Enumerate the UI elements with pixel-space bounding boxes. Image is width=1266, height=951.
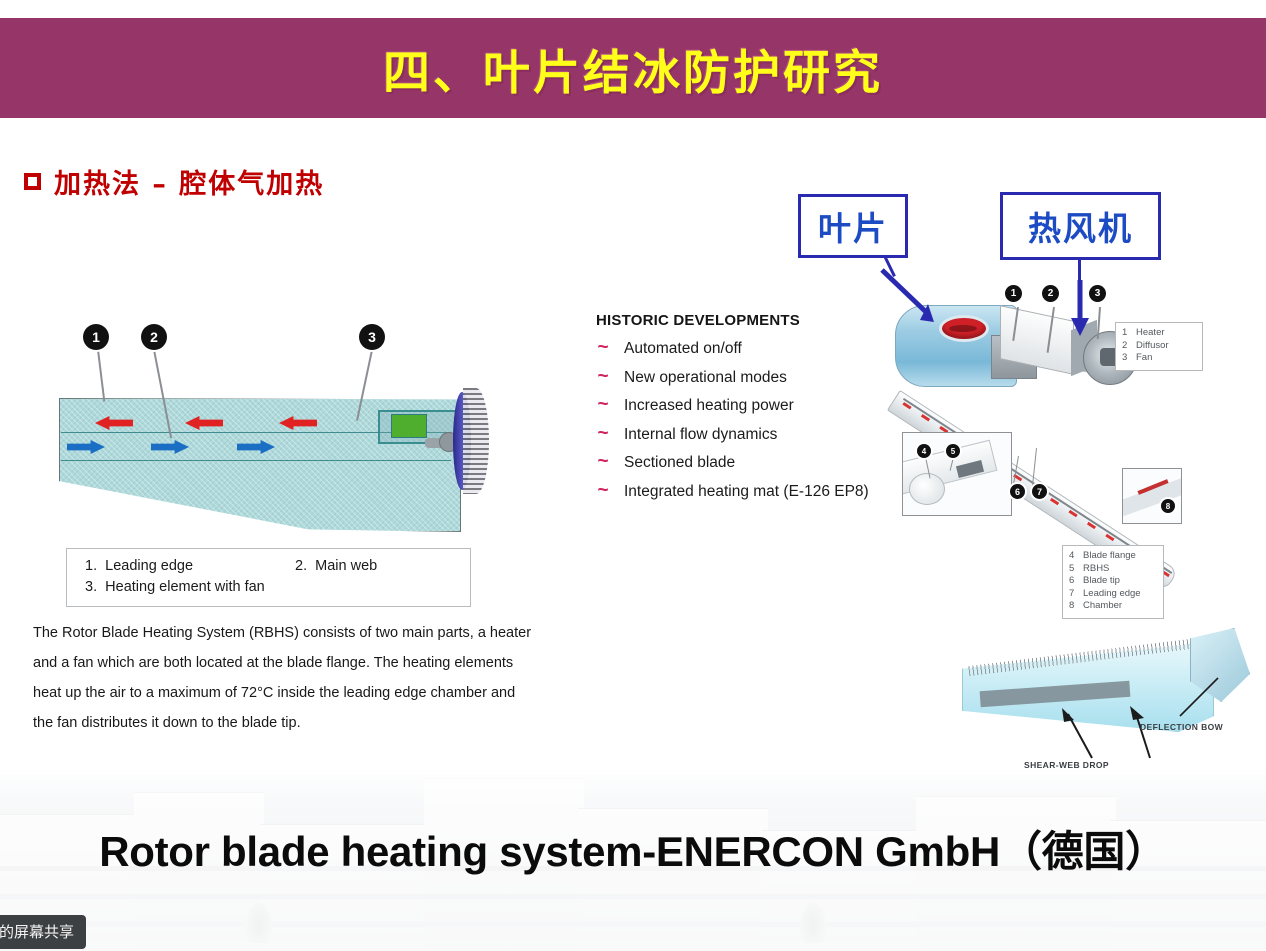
root-legend-label: Heater <box>1136 327 1165 340</box>
historic-item-label: New operational modes <box>624 369 787 387</box>
tilde-bullet-icon: ~ <box>596 371 610 383</box>
legend-row: 1. Leading edge 2. Main web <box>67 556 470 577</box>
callout-blade: 叶片 <box>798 194 908 258</box>
tilde-bullet-icon: ~ <box>596 342 610 354</box>
legend-item-3: 3. Heating element with fan <box>67 577 265 598</box>
slide-footer-title: Rotor blade heating system-ENERCON GmbH（… <box>0 818 1266 879</box>
historic-item-label: Sectioned blade <box>624 454 735 472</box>
blade-legend-label: Leading edge <box>1083 588 1141 601</box>
blade-cross-section-diagram: 1 2 3 <box>53 320 523 535</box>
callout-hot-air-fan-label: 热风机 <box>1028 202 1133 250</box>
inset-flange-bore <box>909 473 945 505</box>
root-marker-1: 1 <box>1005 285 1022 302</box>
marker-3: 3 <box>359 324 385 350</box>
leading-edge-chamber-inset: 8 <box>1122 468 1182 524</box>
deflection-bow-leader-line <box>1172 676 1222 718</box>
root-marker-2: 2 <box>1042 285 1059 302</box>
historic-item: ~ Sectioned blade <box>596 454 896 472</box>
page-title: 四、叶片结冰防护研究 <box>383 34 883 103</box>
blade-legend-label: Blade tip <box>1083 575 1120 588</box>
inset-marker-6: 6 <box>1010 484 1025 499</box>
blade-legend-box: 4 Blade flange 5 RBHS 6 Blade tip 7 Lead… <box>1062 545 1164 619</box>
root-legend-box: 1 Heater 2 Diffusor 3 Fan <box>1115 322 1203 371</box>
left-figure-legend-box: 1. Leading edge 2. Main web 3. Heating e… <box>66 548 471 607</box>
legend-item-1: 1. Leading edge <box>67 556 295 577</box>
historic-item: ~ Internal flow dynamics <box>596 426 896 444</box>
historic-item-label: Increased heating power <box>624 397 794 415</box>
callout-hot-air-fan-arrow-icon <box>1068 280 1092 340</box>
tilde-bullet-icon: ~ <box>596 399 610 411</box>
blade-legend-num: 8 <box>1069 600 1076 613</box>
inset-marker-5: 5 <box>946 444 960 458</box>
blade-flange-inset: 4 5 <box>902 432 1012 516</box>
historic-developments-list: HISTORIC DEVELOPMENTS ~ Automated on/off… <box>596 312 896 511</box>
legend-item-3-label: Heating element with fan <box>105 579 265 595</box>
heating-element <box>391 414 427 438</box>
callout-blade-label: 叶片 <box>818 202 888 250</box>
root-legend-num: 2 <box>1122 340 1129 353</box>
historic-developments-title: HISTORIC DEVELOPMENTS <box>596 312 896 329</box>
deflection-bow-arrow-icon <box>1124 704 1164 762</box>
tilde-bullet-icon: ~ <box>596 456 610 468</box>
root-legend-row: 1 Heater <box>1122 327 1194 340</box>
inset-marker-4: 4 <box>917 444 931 458</box>
blade-legend-num: 5 <box>1069 563 1076 576</box>
blade-legend-row: 8 Chamber <box>1069 600 1155 613</box>
historic-item: ~ Integrated heating mat (E-126 EP8) <box>596 483 896 501</box>
blade-legend-row: 6 Blade tip <box>1069 575 1155 588</box>
root-legend-label: Fan <box>1136 352 1152 365</box>
section-bullet: 加热法 – 腔体气加热 <box>24 162 324 201</box>
callout-hot-air-fan: 热风机 <box>1000 192 1161 260</box>
slide-title-banner: 四、叶片结冰防护研究 <box>0 18 1266 118</box>
chamber-divider-line <box>61 460 451 461</box>
legend-item-2-label: Main web <box>315 558 377 574</box>
marker-2: 2 <box>141 324 167 350</box>
root-legend-row: 2 Diffusor <box>1122 340 1194 353</box>
tilde-bullet-icon: ~ <box>596 428 610 440</box>
legend-item-3-num: 3. <box>85 579 97 595</box>
historic-item: ~ Automated on/off <box>596 340 896 358</box>
blade-legend-label: RBHS <box>1083 563 1109 576</box>
blade-legend-row: 5 RBHS <box>1069 563 1155 576</box>
blade-legend-num: 6 <box>1069 575 1076 588</box>
legend-item-2-num: 2. <box>295 558 307 574</box>
marker-1-leader-line <box>97 350 105 402</box>
root-legend-num: 3 <box>1122 352 1129 365</box>
callout-blade-arrow-icon <box>880 268 950 328</box>
root-legend-num: 1 <box>1122 327 1129 340</box>
historic-item-label: Automated on/off <box>624 340 742 358</box>
root-legend-label: Diffusor <box>1136 340 1169 353</box>
blade-tip-render: SHEAR-WEB DROP DEFLECTION BOW <box>962 610 1252 760</box>
square-bullet-icon <box>24 173 41 190</box>
inset-marker-8: 8 <box>1161 499 1175 513</box>
shear-web-drop-label: SHEAR-WEB DROP <box>1024 760 1109 770</box>
deflection-bow-label: DEFLECTION BOW <box>1140 722 1223 732</box>
marker-1: 1 <box>83 324 109 350</box>
root-legend-row: 3 Fan <box>1122 352 1194 365</box>
shear-web-drop-arrow-icon <box>1058 706 1098 762</box>
blade-legend-num: 4 <box>1069 550 1076 563</box>
blade-legend-label: Blade flange <box>1083 550 1136 563</box>
left-figure-panel: 1 2 3 1. Leading edge <box>33 300 543 750</box>
blade-legend-row: 7 Leading edge <box>1069 588 1155 601</box>
legend-item-2: 2. Main web <box>295 556 377 577</box>
screen-share-indicator[interactable]: 电的屏幕共享 <box>0 915 86 949</box>
legend-item-1-num: 1. <box>85 558 97 574</box>
historic-item-label: Integrated heating mat (E-126 EP8) <box>624 483 869 501</box>
inset-marker-7: 7 <box>1032 484 1047 499</box>
historic-item: ~ New operational modes <box>596 369 896 387</box>
blade-legend-num: 7 <box>1069 588 1076 601</box>
legend-item-1-label: Leading edge <box>105 558 193 574</box>
right-figure-panel: 叶片 热风机 HISTORIC DEVELOPMENTS ~ Automated… <box>580 180 1260 780</box>
historic-item: ~ Increased heating power <box>596 397 896 415</box>
rbhs-description-paragraph: The Rotor Blade Heating System (RBHS) co… <box>33 618 538 738</box>
flange-bolt-teeth <box>463 388 489 494</box>
blade-legend-row: 4 Blade flange <box>1069 550 1155 563</box>
historic-item-label: Internal flow dynamics <box>624 426 777 444</box>
blade-legend-label: Chamber <box>1083 600 1122 613</box>
tilde-bullet-icon: ~ <box>596 485 610 497</box>
legend-row: 3. Heating element with fan <box>67 577 470 598</box>
section-bullet-label: 加热法 – 腔体气加热 <box>54 162 324 201</box>
